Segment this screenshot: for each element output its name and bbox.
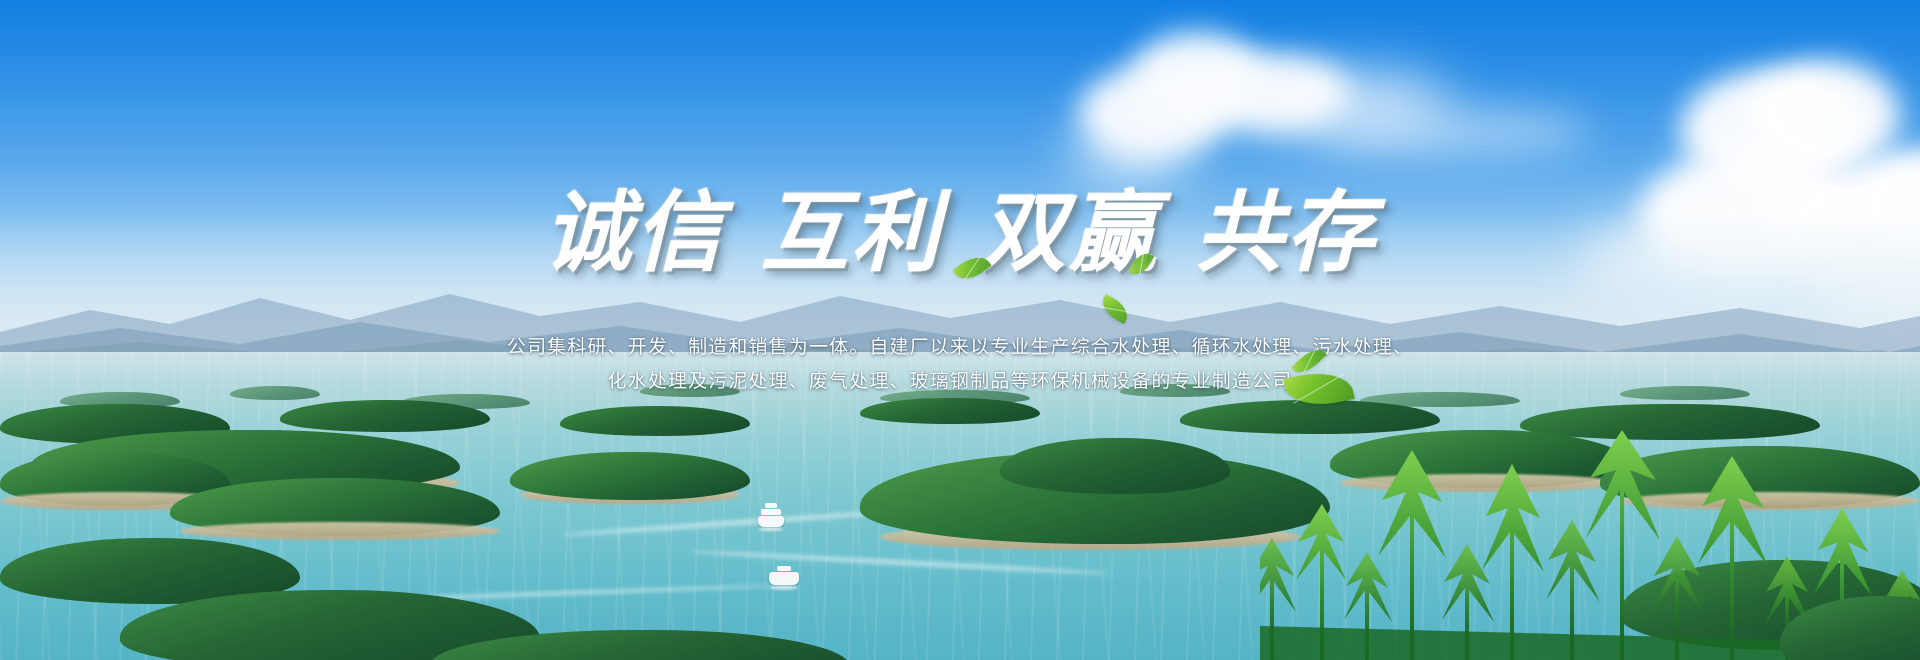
banner-subtitle-line-1: 公司集科研、开发、制造和销售为一体。自建厂以来以专业生产综合水处理、循环水处理、… [0, 332, 1920, 359]
banner-copy-layer: 诚信互利双赢共存 公司集科研、开发、制造和销售为一体。自建厂以来以专业生产综合水… [0, 0, 1920, 660]
hero-banner: 诚信互利双赢共存 公司集科研、开发、制造和销售为一体。自建厂以来以专业生产综合水… [0, 0, 1920, 660]
headline-segment-4: 共存 [1177, 182, 1394, 283]
headline-segment-1: 诚信 [525, 182, 742, 283]
headline-segment-2: 互利 [743, 182, 960, 283]
leaf-icon-mid-small [1098, 294, 1133, 324]
banner-subtitle-line-2: 化水处理及污泥处理、废气处理、玻璃钢制品等环保机械设备的专业制造公司。 [0, 366, 1920, 393]
